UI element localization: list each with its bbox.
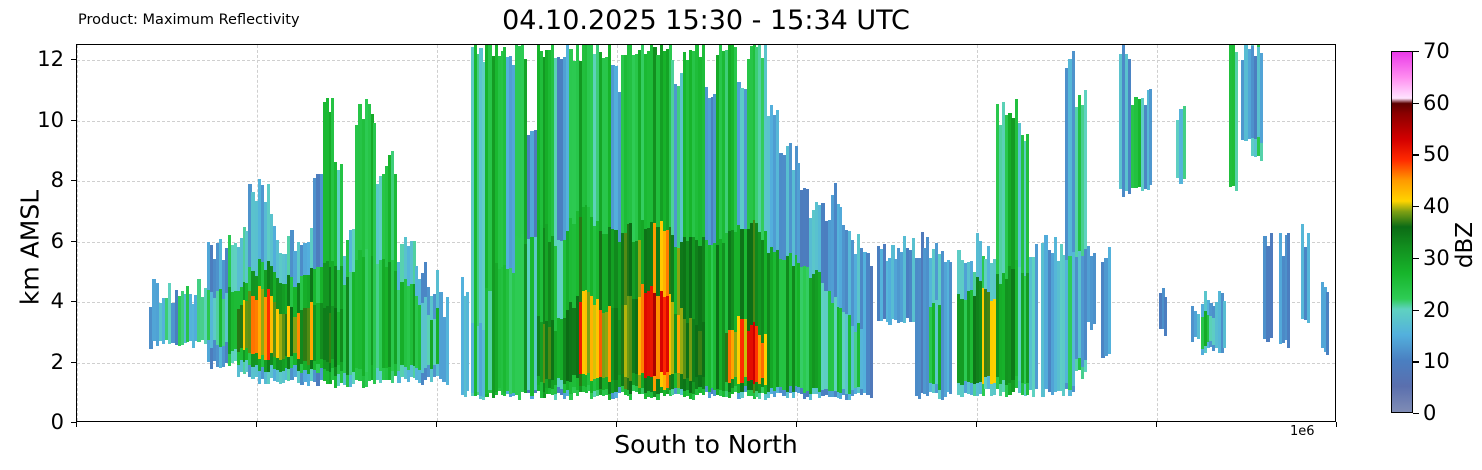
- colorbar-tick-label: 50: [1423, 142, 1450, 166]
- reflectivity-cell: [1326, 292, 1329, 355]
- colorbar-tick-label: 10: [1423, 349, 1450, 373]
- x-axis-offset-text: 1e6: [1290, 424, 1315, 439]
- x-axis-tick-mark: [796, 422, 797, 427]
- y-axis-tick-label: 8: [51, 168, 64, 192]
- y-axis-tick-mark: [71, 59, 76, 60]
- reflectivity-cell: [1093, 253, 1096, 324]
- reflectivity-cell: [1108, 247, 1112, 354]
- reflectivity-cell: [446, 297, 450, 385]
- colorbar-tick-label: 30: [1423, 246, 1450, 270]
- x-axis-tick-mark: [436, 422, 437, 427]
- reflectivity-cell: [1035, 244, 1038, 389]
- reflectivity-cell: [1183, 106, 1187, 178]
- colorbar-tick-label: 40: [1423, 194, 1450, 218]
- reflectivity-cell: [466, 292, 469, 391]
- reflectivity-cell: [1197, 314, 1200, 338]
- y-axis-tick-mark: [71, 120, 76, 121]
- colorbar-tick-mark: [1413, 258, 1419, 259]
- colorbar-tick-mark: [1413, 206, 1419, 207]
- colorbar-tick-mark: [1413, 361, 1419, 362]
- colorbar-tick-label: 0: [1423, 401, 1436, 425]
- colorbar-tick-mark: [1413, 310, 1419, 311]
- y-axis-tick-label: 12: [37, 47, 64, 71]
- reflectivity-cell: [1164, 297, 1167, 336]
- y-axis-tick-mark: [71, 362, 76, 363]
- page-title: 04.10.2025 15:30 - 15:34 UTC: [76, 5, 1336, 36]
- colorbar-tick-label: 70: [1423, 39, 1450, 63]
- y-axis-tick-mark: [71, 180, 76, 181]
- reflectivity-cell: [1287, 233, 1290, 348]
- y-axis-tick-mark: [71, 241, 76, 242]
- reflectivity-cell: [1223, 301, 1226, 348]
- colorbar-gradient: [1392, 52, 1412, 412]
- reflectivity-cell: [1149, 89, 1152, 185]
- x-axis-tick-mark: [76, 422, 77, 427]
- y-axis-tick-label: 0: [51, 410, 64, 434]
- x-axis-tick-mark: [256, 422, 257, 427]
- plot-area[interactable]: [76, 44, 1336, 422]
- x-axis-tick-mark: [1336, 422, 1337, 427]
- colorbar-unit-label: dBZ: [1452, 165, 1478, 325]
- colorbar-tick-label: 20: [1423, 298, 1450, 322]
- colorbar-tick-mark: [1413, 413, 1419, 414]
- x-axis-tick-mark: [976, 422, 977, 427]
- colorbar-tick-mark: [1413, 103, 1419, 104]
- reflectivity-field: [77, 45, 1335, 421]
- colorbar[interactable]: [1391, 51, 1413, 413]
- y-axis-label: km AMSL: [16, 148, 45, 348]
- reflectivity-cell: [870, 266, 874, 398]
- y-axis-tick-label: 10: [37, 108, 64, 132]
- x-axis-tick-mark: [1156, 422, 1157, 427]
- reflectivity-cell: [1260, 53, 1263, 143]
- colorbar-tick-mark: [1413, 154, 1419, 155]
- reflectivity-cell: [949, 262, 952, 394]
- y-axis-tick-label: 4: [51, 289, 64, 313]
- y-axis-tick-mark: [71, 301, 76, 302]
- x-axis-tick-mark: [616, 422, 617, 427]
- y-axis-tick-label: 6: [51, 229, 64, 253]
- y-axis-tick-label: 2: [51, 350, 64, 374]
- colorbar-tick-mark: [1413, 51, 1419, 52]
- colorbar-tick-label: 60: [1423, 91, 1450, 115]
- reflectivity-cell: [1307, 233, 1310, 324]
- reflectivity-cell: [1270, 233, 1274, 338]
- x-axis-label: South to North: [76, 430, 1336, 459]
- radar-cross-section-figure: Product: Maximum Reflectivity 04.10.2025…: [0, 0, 1482, 470]
- reflectivity-cell: [1235, 52, 1238, 190]
